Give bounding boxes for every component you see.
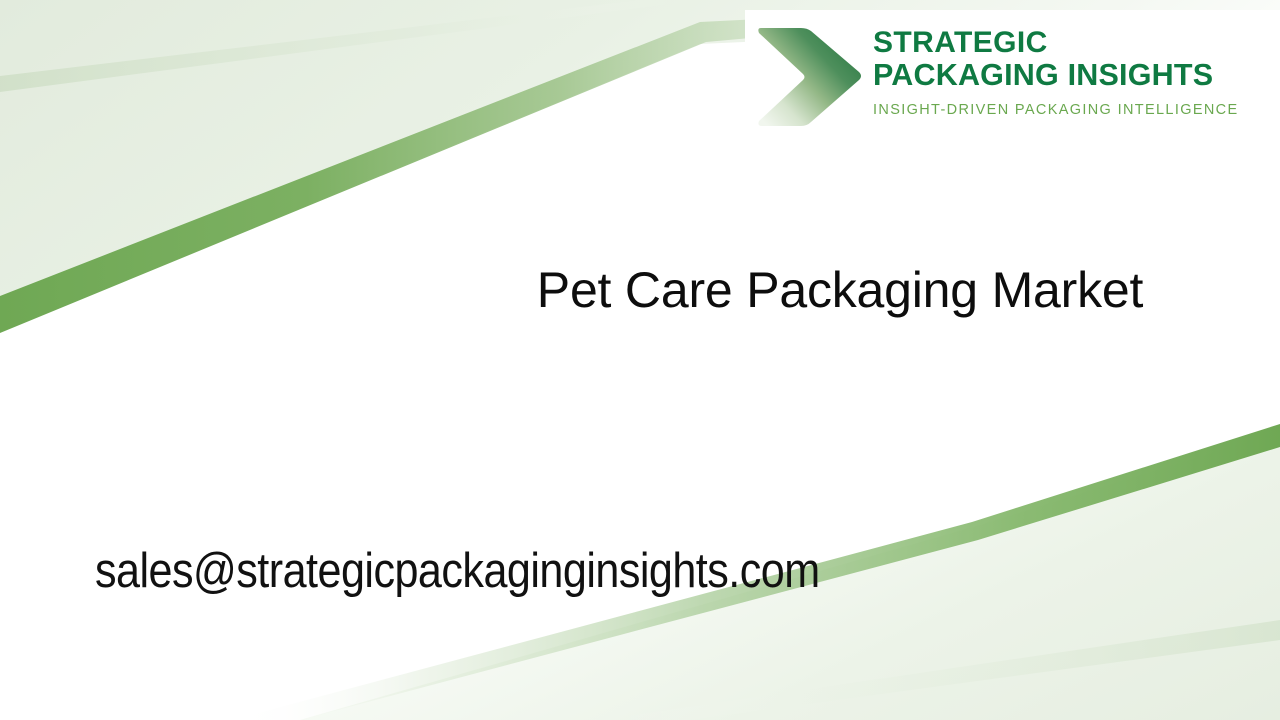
logo-line-packaging-insights: PACKAGING INSIGHTS xyxy=(873,59,1273,92)
decor-band-top-left-faint xyxy=(0,0,700,92)
contact-email[interactable]: sales@strategicpackaginginsights.com xyxy=(95,543,820,599)
decor-band-bottom-right-faint xyxy=(600,620,1280,720)
page-title: Pet Care Packaging Market xyxy=(440,264,1240,316)
chevron-icon xyxy=(755,24,865,129)
logo-wordmark: STRATEGIC PACKAGING INSIGHTS INSIGHT-DRI… xyxy=(873,26,1273,118)
logo-tagline: INSIGHT-DRIVEN PACKAGING INTELLIGENCE xyxy=(873,102,1273,118)
title-slide: STRATEGIC PACKAGING INSIGHTS INSIGHT-DRI… xyxy=(0,0,1280,720)
brand-logo[interactable]: STRATEGIC PACKAGING INSIGHTS INSIGHT-DRI… xyxy=(745,10,1280,138)
logo-line-strategic: STRATEGIC xyxy=(873,26,1273,59)
